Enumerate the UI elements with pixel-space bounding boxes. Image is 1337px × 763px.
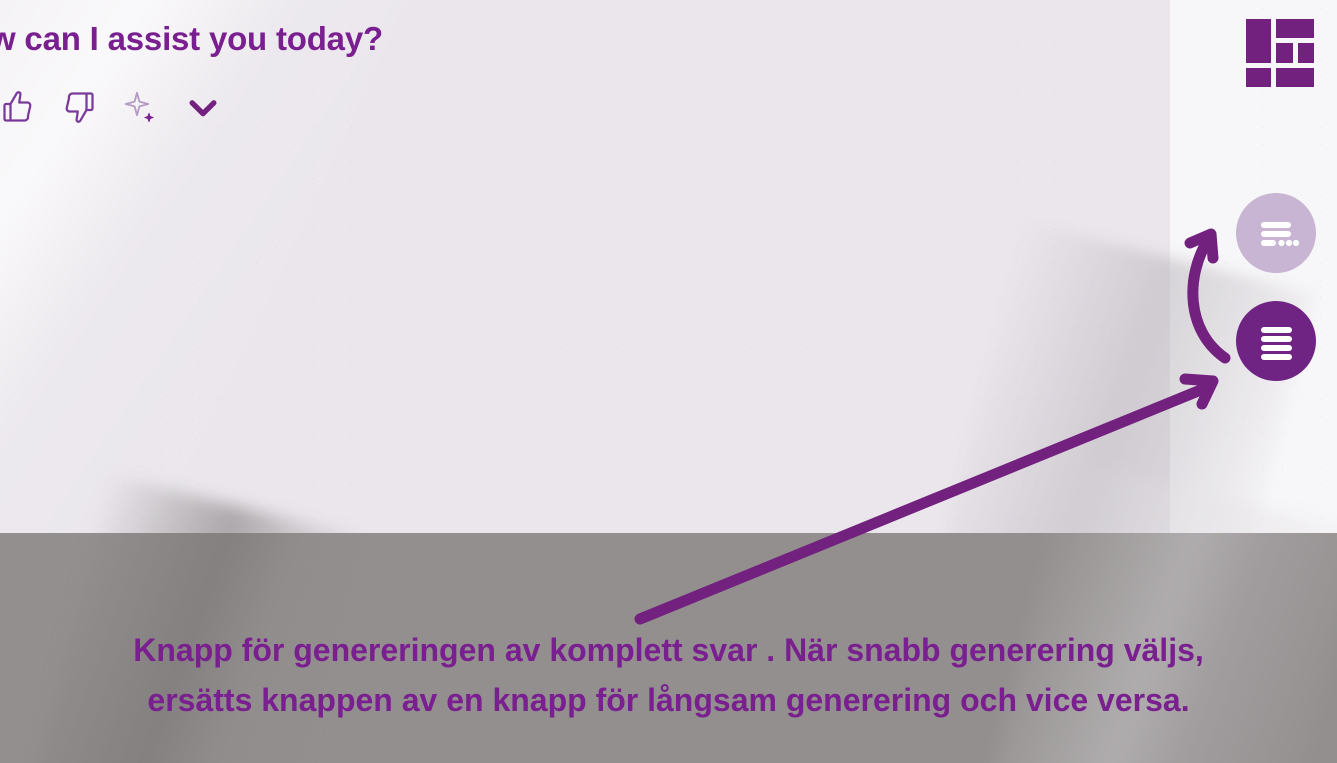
logo-block-mid-right <box>1298 43 1315 62</box>
full-generation-button[interactable] <box>1236 301 1316 381</box>
caption-line-2: ersätts knappen av en knapp för långsam … <box>0 675 1337 725</box>
logo-block-left <box>1246 19 1271 63</box>
logo-middle-row <box>1276 43 1314 62</box>
logo-block-bottom-right <box>1276 68 1314 87</box>
logo-block-top-right <box>1276 19 1314 38</box>
thumbs-up-icon[interactable] <box>0 89 36 125</box>
assistant-greeting-text: w can I assist you today? <box>0 20 383 58</box>
screenshot-root: w can I assist you today? <box>0 0 1337 763</box>
quick-generation-button[interactable] <box>1236 193 1316 273</box>
caption: Knapp för genereringen av komplett svar … <box>0 625 1337 725</box>
caption-line-1: Knapp för genereringen av komplett svar … <box>0 625 1337 675</box>
message-action-row <box>0 88 223 126</box>
sparkle-icon[interactable] <box>122 89 158 125</box>
logo-block-mid-left <box>1276 43 1293 62</box>
logo-block-bottom-left <box>1246 68 1271 87</box>
lines-with-dots-icon <box>1252 209 1300 257</box>
app-logo <box>1246 19 1314 87</box>
lines-icon <box>1252 317 1300 365</box>
thumbs-down-icon[interactable] <box>61 89 97 125</box>
chat-area-background <box>0 0 1170 533</box>
chevron-down-icon[interactable] <box>183 87 223 127</box>
